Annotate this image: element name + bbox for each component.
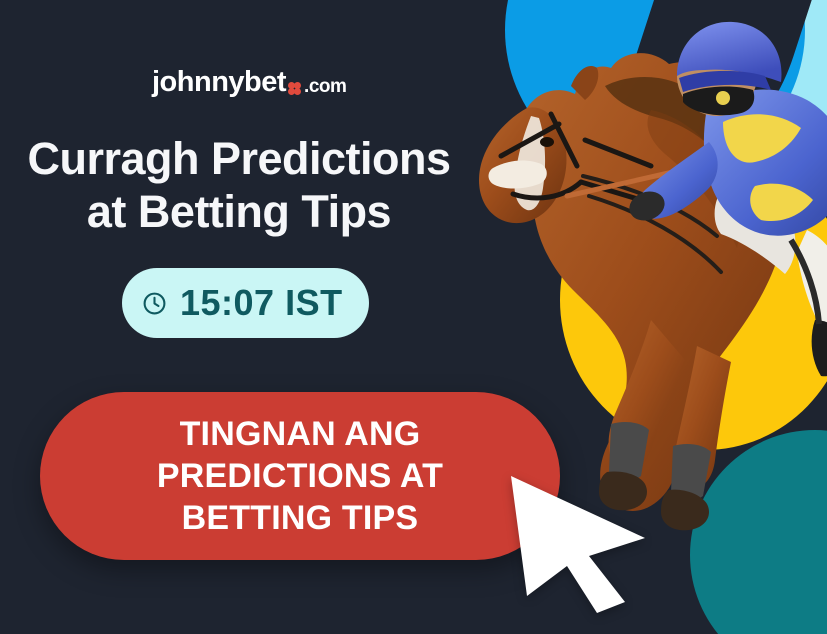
cursor-arrow-icon	[505, 468, 690, 613]
johnnybet-logo[interactable]: johnnybet .com	[152, 68, 346, 97]
logo-wordmark: johnnybet	[152, 68, 286, 97]
time-text: 15:07 IST	[180, 285, 343, 321]
cta-button-label: TINGNAN ANG PREDICTIONS AT BETTING TIPS	[110, 413, 490, 539]
time-badge: 15:07 IST	[122, 268, 369, 338]
promo-banner: johnnybet .com Curragh Predictions at Be…	[0, 0, 827, 634]
headline-line-2: at Betting Tips	[0, 185, 478, 238]
clock-icon	[142, 291, 167, 316]
cta-button[interactable]: TINGNAN ANG PREDICTIONS AT BETTING TIPS	[40, 392, 560, 560]
clover-icon	[288, 82, 301, 95]
page-title: Curragh Predictions at Betting Tips	[0, 132, 478, 238]
logo-tld: .com	[304, 77, 346, 97]
headline-line-1: Curragh Predictions	[27, 133, 450, 184]
